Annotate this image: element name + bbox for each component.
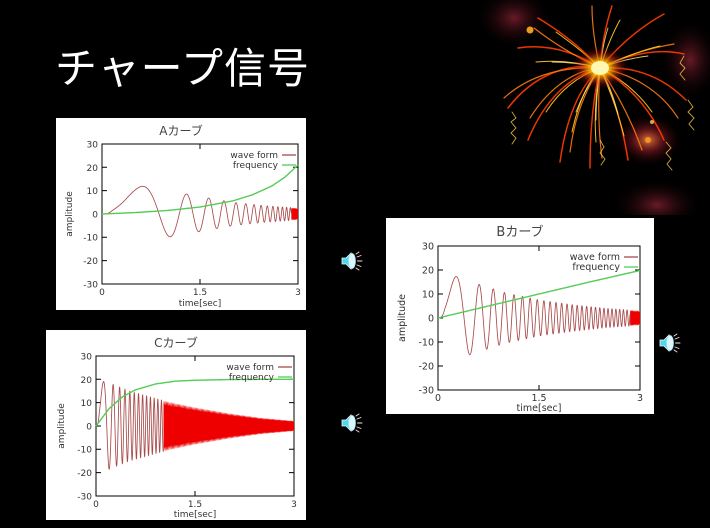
svg-text:30: 30 <box>422 242 434 253</box>
svg-text:-30: -30 <box>83 280 98 290</box>
svg-text:10: 10 <box>87 187 99 197</box>
slide-canvas: チャープ信号 <box>0 0 710 528</box>
fireworks-icon <box>452 0 710 215</box>
chart-a-ylabel: amplitude <box>65 191 75 237</box>
svg-text:-20: -20 <box>77 469 92 479</box>
svg-text:-30: -30 <box>77 492 92 502</box>
svg-text:0: 0 <box>99 288 105 298</box>
svg-text:3: 3 <box>291 500 297 510</box>
svg-text:-10: -10 <box>77 446 92 456</box>
svg-text:0: 0 <box>428 314 434 325</box>
svg-text:-20: -20 <box>418 362 434 373</box>
svg-text:0: 0 <box>92 210 98 220</box>
chart-a-panel[interactable]: Aカーブ 30 20 10 0 -10 -20 -30 0 <box>56 118 306 310</box>
page-title: チャープ信号 <box>55 47 310 91</box>
chart-c-ylabel: amplitude <box>57 403 67 449</box>
chart-b-title: Bカーブ <box>496 224 543 240</box>
svg-text:-30: -30 <box>418 386 434 397</box>
chart-c-panel[interactable]: Cカーブ 30 20 10 0 -10 -20 -30 0 1.5 3 <box>46 330 306 520</box>
svg-text:30: 30 <box>87 141 99 151</box>
svg-text:1.5: 1.5 <box>193 288 207 298</box>
svg-text:frequency: frequency <box>572 262 620 273</box>
svg-text:frequency: frequency <box>229 373 275 383</box>
svg-text:20: 20 <box>87 164 99 174</box>
svg-text:0: 0 <box>93 500 99 510</box>
svg-text:-20: -20 <box>83 257 98 267</box>
chart-a-xlabel: time[sec] <box>179 299 222 309</box>
svg-text:-10: -10 <box>83 234 98 244</box>
svg-text:3: 3 <box>637 393 643 404</box>
chart-b-plot: Bカーブ 30 20 10 0 -10 -20 -30 0 1.5 3 <box>386 218 654 414</box>
svg-text:30: 30 <box>81 353 93 363</box>
chart-b-xlabel: time[sec] <box>517 403 562 414</box>
chart-a-plot: Aカーブ 30 20 10 0 -10 -20 -30 0 <box>56 118 306 310</box>
svg-text:10: 10 <box>422 290 434 301</box>
speaker-icon-c[interactable] <box>338 410 364 436</box>
svg-text:wave form: wave form <box>226 363 274 373</box>
svg-text:20: 20 <box>81 376 93 386</box>
svg-text:3: 3 <box>295 288 301 298</box>
svg-text:0: 0 <box>435 393 441 404</box>
svg-text:wave form: wave form <box>230 151 278 161</box>
svg-text:1.5: 1.5 <box>188 500 202 510</box>
svg-text:0: 0 <box>86 422 92 432</box>
chart-c-plot: Cカーブ 30 20 10 0 -10 -20 -30 0 1.5 3 <box>46 330 306 520</box>
chart-c-xlabel: time[sec] <box>174 510 217 520</box>
speaker-icon-a[interactable] <box>338 248 364 274</box>
svg-text:-10: -10 <box>418 338 434 349</box>
svg-text:20: 20 <box>422 266 434 277</box>
chart-c-title: Cカーブ <box>154 335 198 350</box>
speaker-icon-b[interactable] <box>656 330 682 356</box>
svg-text:10: 10 <box>81 399 93 409</box>
chart-b-panel[interactable]: Bカーブ 30 20 10 0 -10 -20 -30 0 1.5 3 <box>386 218 654 414</box>
chart-b-ylabel: amplitude <box>397 294 408 342</box>
chart-a-title: Aカーブ <box>159 123 203 138</box>
svg-text:frequency: frequency <box>233 161 279 171</box>
